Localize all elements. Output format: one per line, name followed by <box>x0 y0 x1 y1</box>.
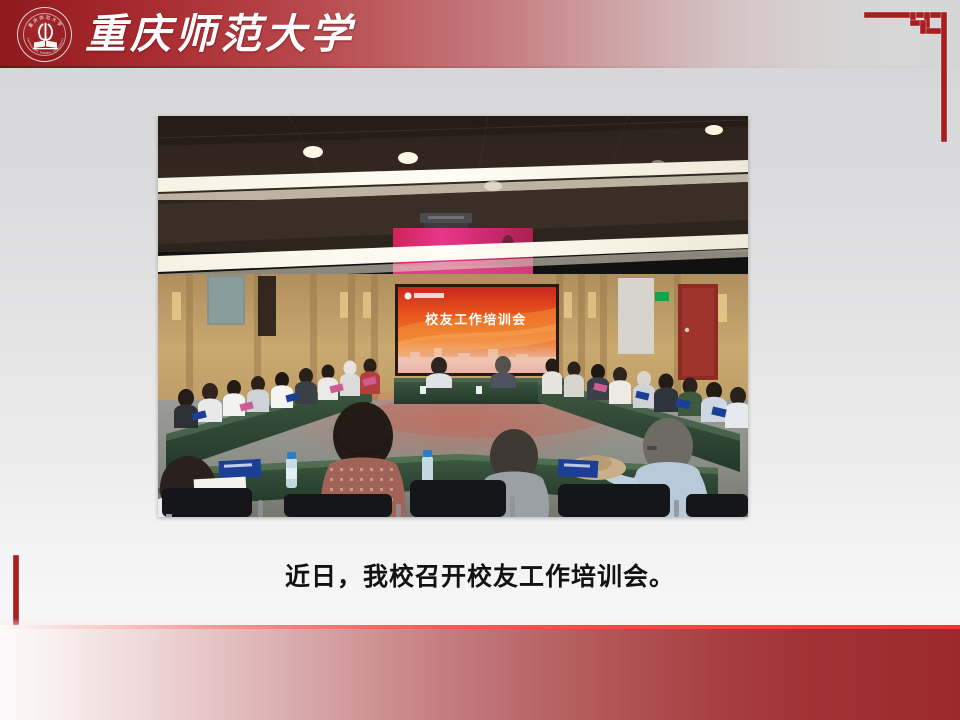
logo-glyph: 重庆师范大学 CHONGQING NORMAL UNIVERSITY <box>18 8 72 62</box>
conference-photo-image: 校友工作培训会 <box>158 116 748 517</box>
university-name-title: 重庆师范大学 <box>85 4 355 64</box>
university-seal-logo: 重庆师范大学 CHONGQING NORMAL UNIVERSITY <box>17 7 72 62</box>
chinese-meander-corner-ornament-top-right <box>860 0 960 180</box>
bottom-decorative-band <box>0 625 960 720</box>
presentation-slide: 重庆师范大学 CHONGQING NORMAL UNIVERSITY 重庆师范大… <box>0 0 960 720</box>
slide-caption: 近日，我校召开校友工作培训会。 <box>0 557 960 593</box>
bottom-band-highlight-line <box>0 625 960 629</box>
svg-text:校友工作培训会: 校友工作培训会 <box>425 312 527 328</box>
conference-photo: 校友工作培训会 <box>158 116 748 517</box>
